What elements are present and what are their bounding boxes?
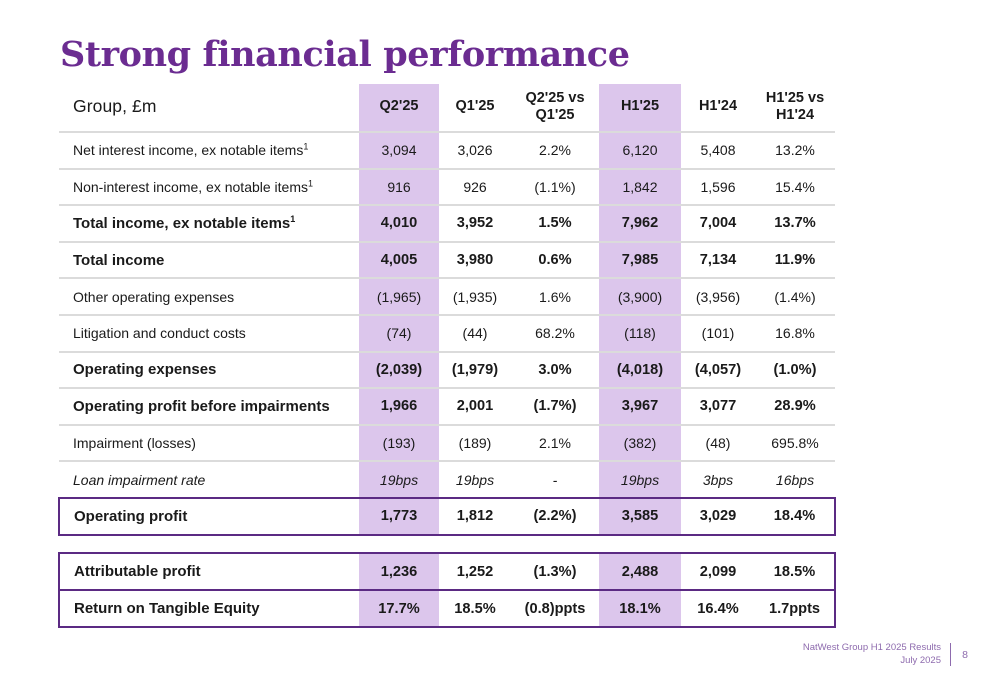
footnote-marker: 1 (303, 142, 308, 152)
cell-q1_25: 3,980 (439, 242, 511, 279)
cell-q2vq1: 1.6% (511, 278, 599, 315)
cell-h1_24: 3,077 (681, 388, 755, 425)
financial-table-container: Group, £mQ2'25Q1'25Q2'25 vsQ1'25H1'25H1'… (58, 84, 834, 536)
cell-q2_25: 1,966 (359, 388, 439, 425)
summary-cell-q2vq1: (1.3%) (511, 553, 599, 590)
cell-h1_24: (3,956) (681, 278, 755, 315)
summary-cell-q2vq1: (0.8)ppts (511, 590, 599, 627)
cell-q2vq1: (1.1%) (511, 169, 599, 206)
row-label: Litigation and conduct costs (59, 315, 359, 352)
cell-h1vh1: 11.9% (755, 242, 835, 279)
cell-q1_25: (1,935) (439, 278, 511, 315)
cell-h1vh1: 18.4% (755, 498, 835, 535)
summary-cell-h1_24: 16.4% (681, 590, 755, 627)
cell-q1_25: (1,979) (439, 352, 511, 389)
cell-h1_24: 5,408 (681, 132, 755, 169)
cell-q2_25: (74) (359, 315, 439, 352)
row-label: Impairment (losses) (59, 425, 359, 462)
cell-h1_25: (4,018) (599, 352, 681, 389)
financial-table: Group, £mQ2'25Q1'25Q2'25 vsQ1'25H1'25H1'… (58, 84, 836, 536)
table-row: Loan impairment rate19bps19bps-19bps3bps… (59, 461, 835, 498)
slide-canvas: Strong financial performance Group, £mQ2… (0, 0, 1000, 685)
cell-h1_24: 7,004 (681, 205, 755, 242)
table-row: Operating profit1,7731,812(2.2%)3,5853,0… (59, 498, 835, 535)
summary-cell-q2_25: 1,236 (359, 553, 439, 590)
cell-q2_25: (2,039) (359, 352, 439, 389)
row-label: Net interest income, ex notable items1 (59, 132, 359, 169)
cell-q2_25: 19bps (359, 461, 439, 498)
summary-cell-h1_25: 18.1% (599, 590, 681, 627)
cell-h1_24: (4,057) (681, 352, 755, 389)
cell-q1_25: 1,812 (439, 498, 511, 535)
cell-h1vh1: 16bps (755, 461, 835, 498)
summary-table: Attributable profit1,2361,252(1.3%)2,488… (58, 552, 836, 628)
cell-h1_25: 3,967 (599, 388, 681, 425)
column-header-q2vq1: Q2'25 vsQ1'25 (511, 84, 599, 132)
row-label: Non-interest income, ex notable items1 (59, 169, 359, 206)
cell-h1vh1: (1.0%) (755, 352, 835, 389)
cell-q2_25: (1,965) (359, 278, 439, 315)
cell-q1_25: 926 (439, 169, 511, 206)
cell-h1vh1: 28.9% (755, 388, 835, 425)
cell-h1vh1: 16.8% (755, 315, 835, 352)
footnote-marker: 1 (290, 214, 295, 224)
row-label: Loan impairment rate (59, 461, 359, 498)
summary-row-label: Return on Tangible Equity (59, 590, 359, 627)
table-row: Total income4,0053,9800.6%7,9857,13411.9… (59, 242, 835, 279)
summary-cell-q2_25: 17.7% (359, 590, 439, 627)
column-header-q2_25: Q2'25 (359, 84, 439, 132)
cell-h1vh1: (1.4%) (755, 278, 835, 315)
slide-footer: NatWest Group H1 2025 Results July 2025 … (803, 642, 970, 667)
summary-cell-h1vh1: 1.7ppts (755, 590, 835, 627)
cell-h1_25: (3,900) (599, 278, 681, 315)
summary-cell-q1_25: 18.5% (439, 590, 511, 627)
summary-row: Attributable profit1,2361,252(1.3%)2,488… (59, 553, 835, 590)
column-header-q1_25: Q1'25 (439, 84, 511, 132)
column-header-h1_25: H1'25 (599, 84, 681, 132)
row-label: Operating profit (59, 498, 359, 535)
table-row: Non-interest income, ex notable items191… (59, 169, 835, 206)
cell-h1_24: (101) (681, 315, 755, 352)
cell-q2vq1: 68.2% (511, 315, 599, 352)
table-row: Net interest income, ex notable items13,… (59, 132, 835, 169)
table-row: Operating expenses(2,039)(1,979)3.0%(4,0… (59, 352, 835, 389)
cell-q1_25: 19bps (439, 461, 511, 498)
cell-q2vq1: 3.0% (511, 352, 599, 389)
cell-q2vq1: - (511, 461, 599, 498)
cell-q1_25: (44) (439, 315, 511, 352)
cell-h1_25: (118) (599, 315, 681, 352)
summary-row-label: Attributable profit (59, 553, 359, 590)
cell-q2vq1: 2.2% (511, 132, 599, 169)
cell-q2vq1: 1.5% (511, 205, 599, 242)
page-title: Strong financial performance (60, 34, 630, 76)
cell-h1_25: 19bps (599, 461, 681, 498)
table-row: Other operating expenses(1,965)(1,935)1.… (59, 278, 835, 315)
summary-cell-h1_25: 2,488 (599, 553, 681, 590)
cell-q2vq1: 0.6% (511, 242, 599, 279)
cell-h1_25: (382) (599, 425, 681, 462)
cell-h1_24: 1,596 (681, 169, 755, 206)
cell-h1vh1: 695.8% (755, 425, 835, 462)
footnote-marker: 1 (308, 178, 313, 188)
cell-q2_25: 1,773 (359, 498, 439, 535)
column-header-label: Group, £m (59, 84, 359, 132)
cell-q2_25: 4,005 (359, 242, 439, 279)
cell-h1_25: 3,585 (599, 498, 681, 535)
summary-table-body: Attributable profit1,2361,252(1.3%)2,488… (59, 553, 835, 627)
table-row: Operating profit before impairments1,966… (59, 388, 835, 425)
cell-h1_24: 3bps (681, 461, 755, 498)
row-label: Other operating expenses (59, 278, 359, 315)
cell-h1vh1: 13.7% (755, 205, 835, 242)
cell-h1_25: 7,962 (599, 205, 681, 242)
row-label: Total income (59, 242, 359, 279)
column-header-h1vh1: H1'25 vsH1'24 (755, 84, 835, 132)
cell-q1_25: 3,952 (439, 205, 511, 242)
cell-h1_24: 7,134 (681, 242, 755, 279)
cell-q2_25: 4,010 (359, 205, 439, 242)
table-header-row: Group, £mQ2'25Q1'25Q2'25 vsQ1'25H1'25H1'… (59, 84, 835, 132)
summary-table-container: Attributable profit1,2361,252(1.3%)2,488… (58, 552, 834, 628)
cell-q1_25: 2,001 (439, 388, 511, 425)
summary-cell-h1vh1: 18.5% (755, 553, 835, 590)
row-label: Operating profit before impairments (59, 388, 359, 425)
column-header-h1_24: H1'24 (681, 84, 755, 132)
row-label: Operating expenses (59, 352, 359, 389)
cell-h1vh1: 15.4% (755, 169, 835, 206)
cell-h1_25: 1,842 (599, 169, 681, 206)
cell-q2_25: 3,094 (359, 132, 439, 169)
cell-h1_24: (48) (681, 425, 755, 462)
cell-q1_25: 3,026 (439, 132, 511, 169)
summary-row: Return on Tangible Equity17.7%18.5%(0.8)… (59, 590, 835, 627)
cell-h1_25: 7,985 (599, 242, 681, 279)
table-row: Total income, ex notable items14,0103,95… (59, 205, 835, 242)
summary-cell-h1_24: 2,099 (681, 553, 755, 590)
footer-deck-title: NatWest Group H1 2025 Results July 2025 (803, 642, 941, 667)
cell-q2vq1: 2.1% (511, 425, 599, 462)
cell-q2_25: 916 (359, 169, 439, 206)
cell-h1_25: 6,120 (599, 132, 681, 169)
cell-q2_25: (193) (359, 425, 439, 462)
cell-q1_25: (189) (439, 425, 511, 462)
cell-q2vq1: (1.7%) (511, 388, 599, 425)
row-label: Total income, ex notable items1 (59, 205, 359, 242)
page-number: 8 (960, 649, 970, 661)
footer-divider (950, 643, 951, 666)
summary-cell-q1_25: 1,252 (439, 553, 511, 590)
cell-q2vq1: (2.2%) (511, 498, 599, 535)
table-row: Impairment (losses)(193)(189)2.1%(382)(4… (59, 425, 835, 462)
table-row: Litigation and conduct costs(74)(44)68.2… (59, 315, 835, 352)
cell-h1vh1: 13.2% (755, 132, 835, 169)
financial-table-body: Group, £mQ2'25Q1'25Q2'25 vsQ1'25H1'25H1'… (59, 84, 835, 535)
cell-h1_24: 3,029 (681, 498, 755, 535)
